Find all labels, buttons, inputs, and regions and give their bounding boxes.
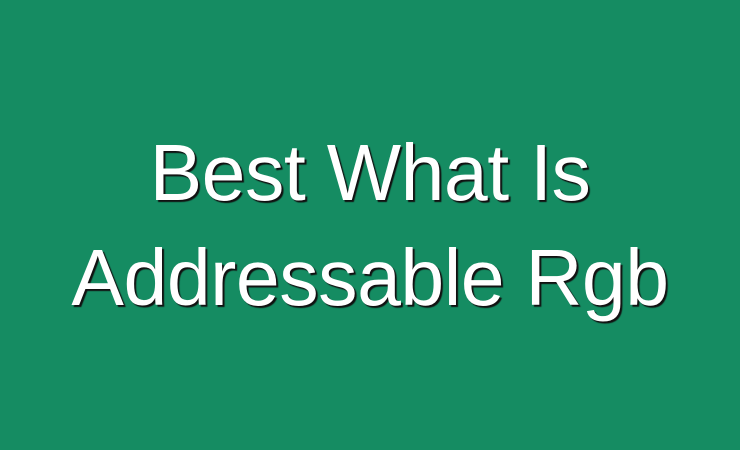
banner-canvas: Best What Is Addressable Rgb — [0, 0, 740, 450]
title-line-1: Best What Is — [15, 120, 724, 225]
title-line-2: Addressable Rgb — [15, 225, 724, 330]
page-title: Best What Is Addressable Rgb — [0, 120, 740, 330]
